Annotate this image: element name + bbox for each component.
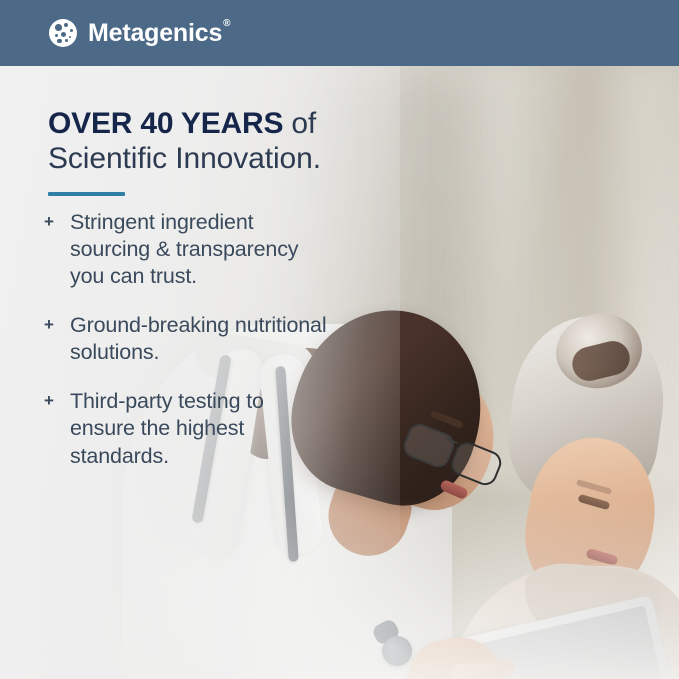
benefit-list: + Stringent ingredient sourcing & transp… xyxy=(44,209,334,492)
brand-name: Metagenics® xyxy=(88,21,230,46)
list-item: + Stringent ingredient sourcing & transp… xyxy=(44,209,334,290)
list-item: + Ground-breaking nutritional solutions. xyxy=(44,312,334,366)
headline-emphasis: OVER 40 YEARS xyxy=(48,107,283,140)
brand-logo-lockup[interactable]: Metagenics® xyxy=(49,19,230,47)
ad-copy-block: OVER 40 YEARS of Scientific Innovation. … xyxy=(0,66,679,679)
list-item: + Third-party testing to ensure the high… xyxy=(44,388,334,469)
cell-dots-circle-icon xyxy=(49,19,77,47)
registered-trademark-symbol: ® xyxy=(223,18,230,29)
headline-suffix: of xyxy=(283,107,316,140)
plus-icon: + xyxy=(44,209,70,234)
plus-icon: + xyxy=(44,388,70,413)
plus-icon: + xyxy=(44,312,70,337)
metagenics-ad-banner: Metagenics® xyxy=(0,0,679,679)
list-item-label: Ground-breaking nutritional solutions. xyxy=(70,312,334,366)
brand-name-text: Metagenics xyxy=(88,19,222,47)
headline-line-2: Scientific Innovation. xyxy=(48,141,448,176)
headline: OVER 40 YEARS of Scientific Innovation. xyxy=(48,106,448,176)
brand-header-bar: Metagenics® xyxy=(0,0,679,66)
headline-line-1: OVER 40 YEARS of xyxy=(48,106,448,141)
accent-divider xyxy=(48,192,125,196)
list-item-label: Third-party testing to ensure the highes… xyxy=(70,388,334,469)
list-item-label: Stringent ingredient sourcing & transpar… xyxy=(70,209,334,290)
